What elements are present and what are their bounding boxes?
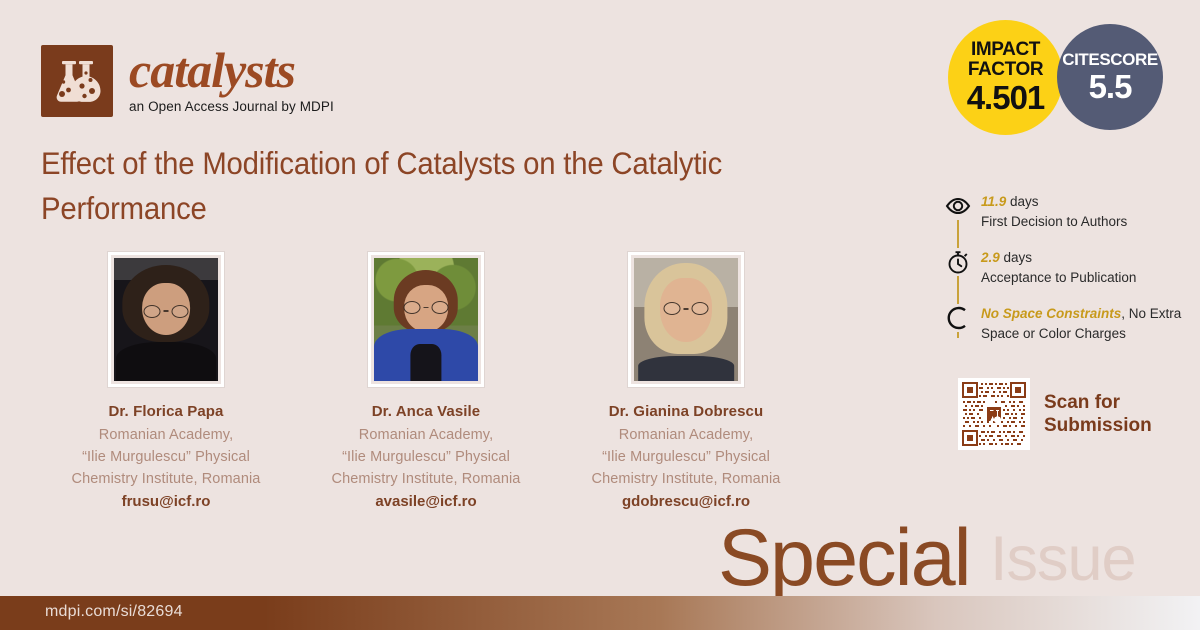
stat-highlight: No Space Constraints: [981, 306, 1121, 321]
stat-unit: days: [1000, 250, 1032, 265]
authors-list: Dr. Florica Papa Romanian Academy, “Ilie…: [36, 252, 836, 510]
journal-logo[interactable]: catalysts an Open Access Journal by MDPI: [41, 45, 334, 117]
impact-factor-line1: IMPACT: [971, 40, 1040, 60]
qr-code-icon[interactable]: [958, 378, 1030, 450]
author-email[interactable]: avasile@icf.ro: [296, 493, 556, 510]
author-affiliation: Romanian Academy, “Ilie Murgulescu” Phys…: [296, 424, 556, 490]
qr-label-line1: Scan for: [1044, 391, 1152, 414]
watermark-special: Special: [718, 518, 970, 599]
qr-submission-block[interactable]: Scan for Submission: [958, 378, 1152, 450]
stat-unit: , No Extra: [1121, 306, 1181, 321]
footer-url[interactable]: mdpi.com/si/82694: [45, 603, 183, 621]
author-name: Dr. Florica Papa: [36, 403, 296, 420]
author-card: Dr. Anca Vasile Romanian Academy, “Ilie …: [296, 252, 556, 510]
glasses-icon: [404, 301, 449, 314]
author-email[interactable]: frusu@icf.ro: [36, 493, 296, 510]
stat-item: No Space Constraints, No Extra Space or …: [943, 304, 1193, 344]
stat-item: 11.9 days First Decision to Authors: [943, 192, 1193, 232]
author-affiliation: Romanian Academy, “Ilie Murgulescu” Phys…: [36, 424, 296, 490]
stat-highlight: 11.9: [981, 194, 1006, 209]
stat-description: Acceptance to Publication: [981, 267, 1136, 288]
qr-label: Scan for Submission: [1044, 391, 1152, 437]
citescore-value: 5.5: [1089, 70, 1132, 104]
copyright-c-icon: [943, 304, 973, 332]
citescore-badge: CITESCORE 5.5: [1057, 24, 1163, 130]
glasses-icon: [664, 302, 709, 315]
stat-highlight: 2.9: [981, 250, 1000, 265]
citescore-label: CITESCORE: [1062, 50, 1158, 69]
impact-factor-line2: FACTOR: [968, 60, 1043, 80]
author-name: Dr. Gianina Dobrescu: [556, 403, 816, 420]
stat-unit: days: [1006, 194, 1038, 209]
eye-icon: [943, 192, 973, 220]
journal-name: catalysts: [129, 43, 334, 97]
journal-logo-text: catalysts an Open Access Journal by MDPI: [129, 43, 334, 114]
stats-list: 11.9 days First Decision to Authors 2.9 …: [943, 192, 1193, 344]
stopwatch-icon: [943, 248, 973, 276]
poster-canvas: catalysts an Open Access Journal by MDPI…: [0, 0, 1200, 630]
avatar: [108, 252, 224, 387]
avatar: [368, 252, 484, 387]
journal-tagline: an Open Access Journal by MDPI: [129, 99, 334, 114]
metrics-badges: IMPACT FACTOR 4.501 CITESCORE 5.5: [948, 20, 1163, 135]
qr-label-line2: Submission: [1044, 414, 1152, 437]
stat-description: Space or Color Charges: [981, 323, 1181, 344]
special-issue-title: Effect of the Modification of Catalysts …: [41, 141, 822, 231]
flasks-icon: [41, 45, 113, 117]
author-affiliation: Romanian Academy, “Ilie Murgulescu” Phys…: [556, 424, 816, 490]
author-name: Dr. Anca Vasile: [296, 403, 556, 420]
author-card: Dr. Florica Papa Romanian Academy, “Ilie…: [36, 252, 296, 510]
impact-factor-value: 4.501: [967, 81, 1045, 115]
glasses-icon: [144, 305, 189, 318]
stat-description: First Decision to Authors: [981, 211, 1127, 232]
author-card: Dr. Gianina Dobrescu Romanian Academy, “…: [556, 252, 816, 510]
watermark-issue: Issue: [990, 528, 1136, 591]
author-email[interactable]: gdobrescu@icf.ro: [556, 493, 816, 510]
avatar: [628, 252, 744, 387]
impact-factor-badge: IMPACT FACTOR 4.501: [948, 20, 1063, 135]
footer-bar: mdpi.com/si/82694: [0, 596, 1200, 630]
stat-item: 2.9 days Acceptance to Publication: [943, 248, 1193, 288]
